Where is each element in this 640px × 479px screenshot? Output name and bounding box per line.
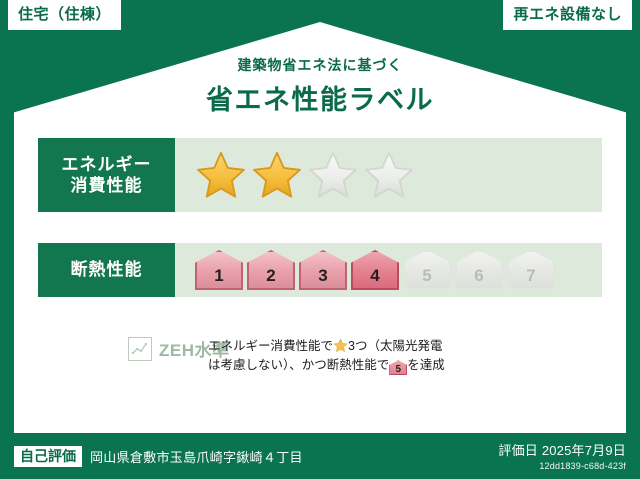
inline-star-icon (333, 338, 348, 353)
title-subtitle: 建築物省エネ法に基づく (0, 55, 640, 75)
star-empty-icon (363, 150, 415, 200)
energy-performance-row: エネルギー 消費性能 (38, 138, 602, 212)
building-type-tag: 住宅（住棟） (8, 0, 121, 30)
zeh-mark: ZEH水準 (38, 336, 208, 361)
evaluation-date-block: 評価日 2025年7月9日 12dd1839-c68d-423f (498, 440, 626, 471)
zeh-desc-part1: エネルギー消費性能で (208, 339, 333, 353)
property-address: 岡山県倉敷市玉島爪崎字鍬崎４丁目 (90, 447, 303, 466)
insulation-performance-label: 断熱性能 (38, 243, 175, 297)
grade-badge-2: 2 (247, 250, 295, 290)
star-empty-icon (307, 150, 359, 200)
energy-label-root: 住宅（住棟） 再エネ設備なし 建築物省エネ法に基づく 省エネ性能ラベル エネルギ… (0, 0, 640, 479)
star-filled-icon (251, 150, 303, 200)
zeh-desc-part4: を達成 (407, 358, 445, 372)
grade-badge-scale: 1234567 (195, 250, 555, 290)
grade-badge-4: 4 (351, 250, 399, 290)
energy-label-line1: エネルギー (62, 154, 152, 175)
energy-performance-value (175, 138, 602, 212)
zeh-desc-part3: は考慮しない）、かつ断熱性能で (208, 358, 389, 372)
evaluation-id: 12dd1839-c68d-423f (498, 461, 626, 471)
star-filled-icon (195, 150, 247, 200)
zeh-check-icon (128, 337, 152, 361)
inline-grade-badge: 5 (389, 360, 407, 375)
grade-badge-6: 6 (455, 250, 503, 290)
grade-badge-1: 1 (195, 250, 243, 290)
renewable-energy-tag: 再エネ設備なし (503, 0, 632, 30)
grade-badge-7: 7 (507, 250, 555, 290)
energy-performance-label: エネルギー 消費性能 (38, 138, 175, 212)
grade-badge-3: 3 (299, 250, 347, 290)
insulation-performance-value: 1234567 (175, 243, 602, 297)
self-evaluation-block: 自己評価 岡山県倉敷市玉島爪崎字鍬崎４丁目 (14, 446, 303, 467)
insulation-performance-row: 断熱性能 1234567 (38, 243, 602, 297)
grade-badge-5: 5 (403, 250, 451, 290)
self-evaluation-tag: 自己評価 (14, 446, 82, 467)
label-footer: 自己評価 岡山県倉敷市玉島爪崎字鍬崎４丁目 評価日 2025年7月9日 12dd… (0, 435, 640, 479)
star-rating (195, 150, 415, 200)
insulation-label-text: 断熱性能 (71, 259, 143, 280)
title-main: 省エネ性能ラベル (0, 78, 640, 117)
label-title-block: 建築物省エネ法に基づく 省エネ性能ラベル (0, 55, 640, 117)
energy-label-line2: 消費性能 (71, 175, 143, 196)
zeh-description: エネルギー消費性能で 3つ（太陽光発電 は考慮しない）、かつ断熱性能で5を達成 (208, 336, 602, 376)
zeh-standard-row: ZEH水準 エネルギー消費性能で 3つ（太陽光発電 は考慮しない）、かつ断熱性能… (38, 336, 602, 376)
zeh-desc-part2: 3つ（太陽光発電 (348, 339, 442, 353)
evaluation-date: 評価日 2025年7月9日 (498, 440, 626, 459)
